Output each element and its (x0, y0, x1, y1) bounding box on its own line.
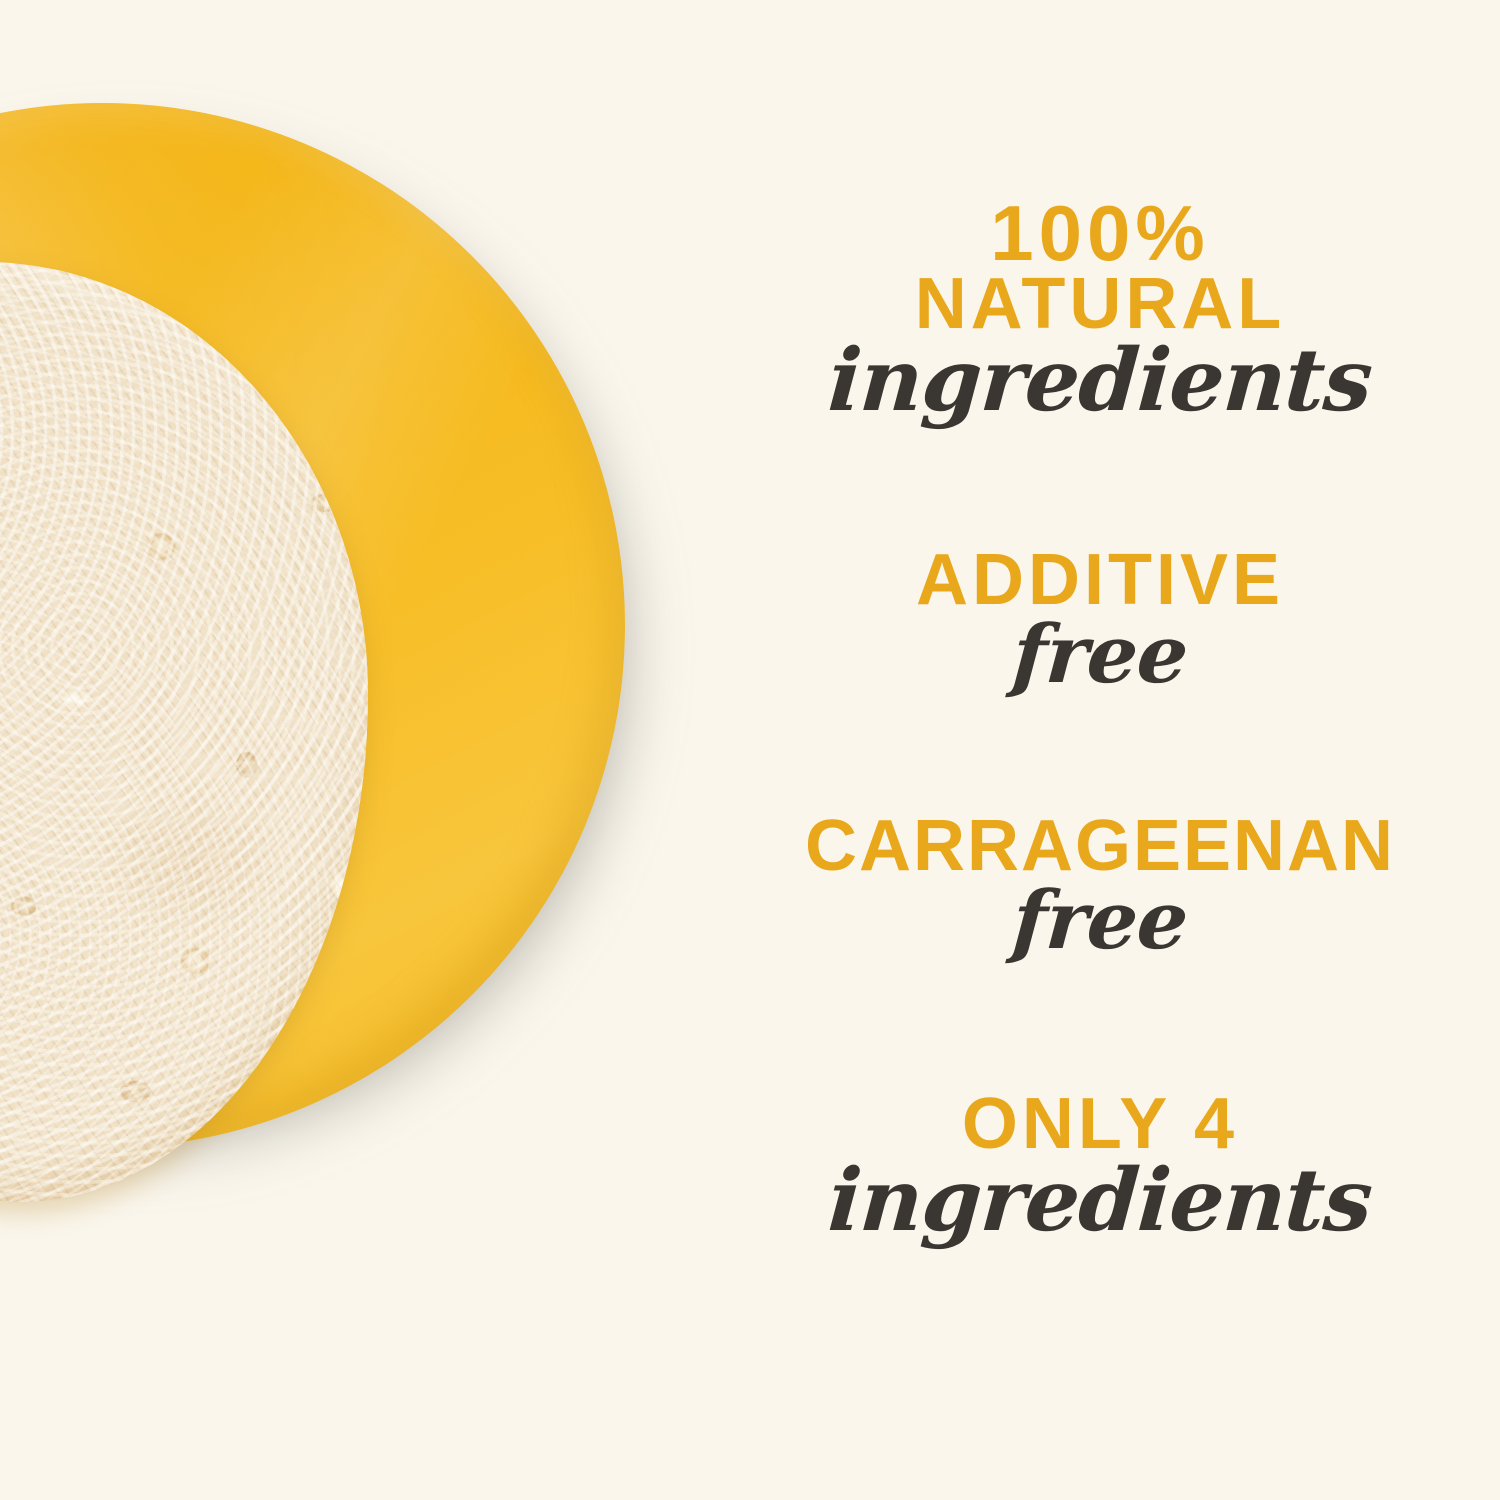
claim-only-4-ingredients: ONLY 4 ingredients (700, 1090, 1500, 1244)
claim-headline-natural: NATURAL (700, 270, 1500, 338)
claim-headline-carrageenan: CARRAGEENAN (700, 812, 1500, 880)
claim-headline-percent: 100% (700, 196, 1500, 270)
claim-headline-additive: ADDITIVE (700, 546, 1500, 614)
claim-additive-free: ADDITIVE free (700, 546, 1500, 694)
claim-headline-only-4: ONLY 4 (700, 1090, 1500, 1158)
claim-script-ingredients-2: ingredients (697, 1158, 1500, 1244)
shredded-chicken-food (0, 262, 368, 1202)
claim-natural-ingredients: 100% NATURAL ingredients (700, 196, 1500, 424)
claim-carrageenan-free: CARRAGEENAN free (700, 812, 1500, 960)
claim-script-ingredients: ingredients (697, 338, 1500, 424)
claims-list: 100% NATURAL ingredients ADDITIVE free C… (700, 0, 1500, 1500)
claim-script-free: free (697, 614, 1500, 694)
product-benefits-canvas: 100% NATURAL ingredients ADDITIVE free C… (0, 0, 1500, 1500)
claim-script-free-2: free (697, 880, 1500, 960)
product-photo (0, 0, 760, 1500)
